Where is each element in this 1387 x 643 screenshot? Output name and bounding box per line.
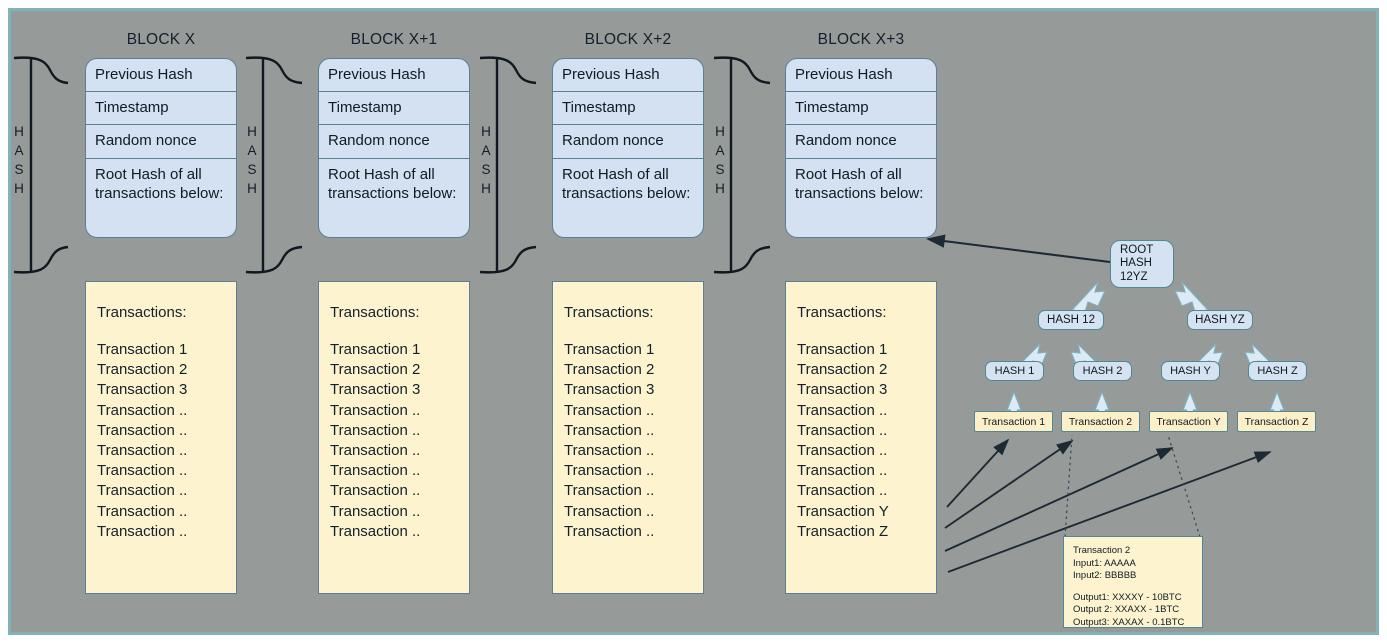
transaction-item: Transaction 1 [330,340,469,360]
field-root-hash: Root Hash of all transactions below: [553,159,703,237]
merkle-leaf-transaction-z: Transaction Z [1237,411,1316,432]
transaction-item: Transaction .. [797,481,936,501]
block-header-2: Previous Hash Timestamp Random nonce Roo… [552,58,704,238]
block-transactions-0: Transactions: Transaction 1 Transaction … [85,281,237,594]
transaction-item: Transaction .. [330,421,469,441]
merkle-node-hash-1: HASH 1 [985,361,1044,381]
detail-spacer [1073,583,1193,592]
transaction-item: Transaction 3 [797,380,936,400]
merkle-root-node: ROOT HASH 12YZ [1110,240,1174,288]
detail-title: Transaction 2 [1073,545,1193,558]
block-header-1: Previous Hash Timestamp Random nonce Roo… [318,58,470,238]
transaction-item: Transaction 2 [330,360,469,380]
transaction-item: Transaction .. [330,441,469,461]
field-previous-hash: Previous Hash [786,59,936,92]
merkle-node-hash-z: HASH Z [1248,361,1307,381]
field-random-nonce: Random nonce [319,125,469,158]
field-root-hash: Root Hash of all transactions below: [86,159,236,237]
transaction-item: Transaction .. [97,401,236,421]
transaction-item: Transaction .. [797,441,936,461]
hash-label-3: H A S H [712,122,728,198]
transaction-detail-box: Transaction 2 Input1: AAAAA Input2: BBBB… [1063,536,1203,628]
block-transactions-1: Transactions: Transaction 1 Transaction … [318,281,470,594]
transactions-label: Transactions: [330,304,469,321]
hash-label-0: H A S H [11,122,27,198]
merkle-leaf-transaction-y: Transaction Y [1149,411,1228,432]
hash-label-1: H A S H [244,122,260,198]
merkle-leaf-transaction-2: Transaction 2 [1061,411,1140,432]
block-transactions-3: Transactions: Transaction 1 Transaction … [785,281,937,594]
transaction-item: Transaction .. [97,441,236,461]
hash-letter: H [478,179,494,198]
transaction-item: Transaction 3 [97,380,236,400]
transaction-item: Transaction .. [97,481,236,501]
hash-letter: A [244,141,260,160]
transaction-item: Transaction .. [564,421,703,441]
transaction-item: Transaction .. [97,461,236,481]
detail-input-1: Input1: AAAAA [1073,558,1193,571]
transaction-item: Transaction .. [97,421,236,441]
hash-letter: H [712,122,728,141]
block-header-3: Previous Hash Timestamp Random nonce Roo… [785,58,937,238]
block-transactions-2: Transactions: Transaction 1 Transaction … [552,281,704,594]
detail-output-3: Output3: XAXAX - 0.1BTC [1073,617,1193,630]
merkle-node-hash-yz: HASH YZ [1187,310,1253,330]
block-title-3: BLOCK X+3 [785,31,937,49]
transaction-item: Transaction 2 [97,360,236,380]
transaction-item: Transaction .. [564,502,703,522]
transaction-item: Transaction 1 [97,340,236,360]
block-title-0: BLOCK X [85,31,237,49]
hash-letter: S [244,160,260,179]
block-title-1: BLOCK X+1 [318,31,470,49]
hash-letter: H [244,179,260,198]
transaction-item: Transaction .. [97,502,236,522]
field-timestamp: Timestamp [786,92,936,125]
block-header-0: Previous Hash Timestamp Random nonce Roo… [85,58,237,238]
transactions-label: Transactions: [564,304,703,321]
transactions-label: Transactions: [797,304,936,321]
transaction-item: Transaction .. [564,461,703,481]
transaction-item: Transaction Y [797,502,936,522]
transaction-item: Transaction .. [564,522,703,542]
transaction-item: Transaction 3 [330,380,469,400]
field-timestamp: Timestamp [319,92,469,125]
transaction-item: Transaction Z [797,522,936,542]
hash-letter: S [11,160,27,179]
transaction-item: Transaction .. [797,421,936,441]
transaction-item: Transaction .. [330,481,469,501]
transaction-item: Transaction 1 [564,340,703,360]
transaction-item: Transaction .. [330,502,469,522]
hash-letter: H [244,122,260,141]
transaction-item: Transaction .. [97,522,236,542]
hash-label-2: H A S H [478,122,494,198]
hash-letter: H [478,122,494,141]
field-random-nonce: Random nonce [86,125,236,158]
hash-letter: H [712,179,728,198]
field-previous-hash: Previous Hash [319,59,469,92]
merkle-node-hash-12: HASH 12 [1038,310,1104,330]
hash-letter: A [11,141,27,160]
transaction-item: Transaction 2 [564,360,703,380]
detail-output-2: Output 2: XXAXX - 1BTC [1073,604,1193,617]
transaction-item: Transaction .. [564,481,703,501]
transaction-item: Transaction .. [330,522,469,542]
field-random-nonce: Random nonce [786,125,936,158]
hash-letter: S [478,160,494,179]
detail-output-1: Output1: XXXXY - 10BTC [1073,592,1193,605]
transaction-item: Transaction .. [564,401,703,421]
merkle-leaf-transaction-1: Transaction 1 [974,411,1053,432]
root-line-2: HASH [1120,257,1152,271]
transaction-item: Transaction .. [564,441,703,461]
diagram-canvas: H A S H H A S H H A S H H A S H BLOCK X … [0,0,1387,643]
transaction-item: Transaction .. [330,401,469,421]
field-previous-hash: Previous Hash [86,59,236,92]
transaction-item: Transaction 1 [797,340,936,360]
field-random-nonce: Random nonce [553,125,703,158]
hash-letter: H [11,179,27,198]
transaction-item: Transaction 2 [797,360,936,380]
field-timestamp: Timestamp [86,92,236,125]
field-root-hash: Root Hash of all transactions below: [786,159,936,237]
field-root-hash: Root Hash of all transactions below: [319,159,469,237]
transaction-item: Transaction 3 [564,380,703,400]
hash-letter: A [712,141,728,160]
hash-letter: H [11,122,27,141]
hash-letter: A [478,141,494,160]
detail-input-2: Input2: BBBBB [1073,570,1193,583]
hash-letter: S [712,160,728,179]
transaction-item: Transaction .. [797,401,936,421]
merkle-node-hash-y: HASH Y [1161,361,1220,381]
transaction-item: Transaction .. [797,461,936,481]
root-line-1: ROOT [1120,244,1153,258]
field-timestamp: Timestamp [553,92,703,125]
merkle-node-hash-2: HASH 2 [1073,361,1132,381]
transaction-item: Transaction .. [330,461,469,481]
block-title-2: BLOCK X+2 [552,31,704,49]
field-previous-hash: Previous Hash [553,59,703,92]
root-line-3: 12YZ [1120,271,1148,285]
transactions-label: Transactions: [97,304,236,321]
